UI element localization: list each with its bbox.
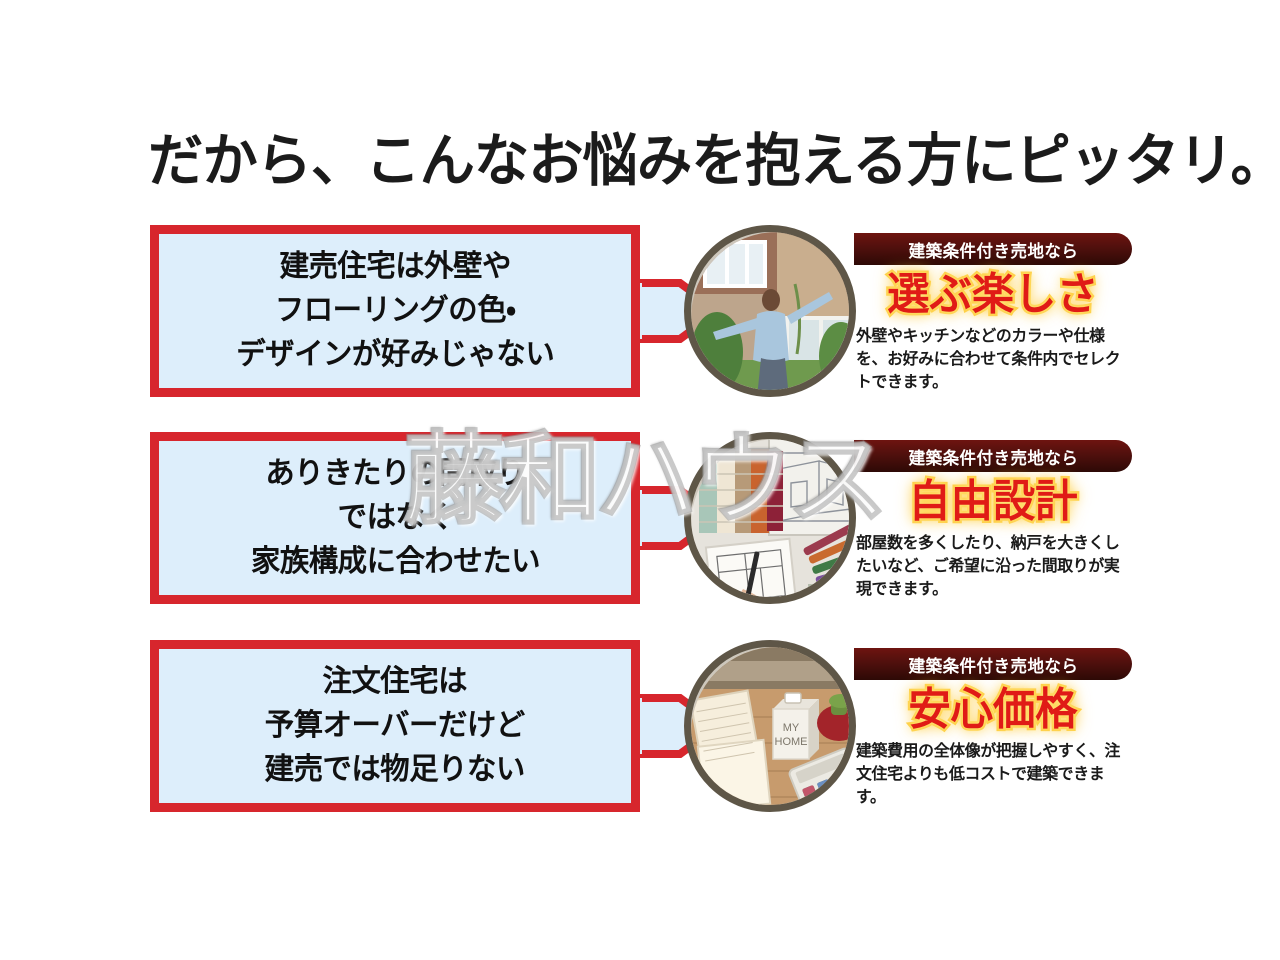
benefit-description: 外壁やキッチンなどのカラーや仕様を、お好みに合わせて条件内でセレクトできます。 <box>856 325 1129 394</box>
problem-text: 注文住宅は 予算オーバーだけど 建売では物足りない <box>265 660 525 792</box>
benefit-photo <box>684 432 856 604</box>
benefit-row: 注文住宅は 予算オーバーだけど 建売では物足りない <box>0 640 1280 816</box>
benefit-card-body: 建築条件付き売地なら 安心価格 建築費用の全体像が把握しやすく、注文住宅よりも低… <box>854 638 1154 818</box>
benefit-title-text: 安心価格 <box>909 673 1078 737</box>
benefit-card: MY HOME <box>684 638 1154 818</box>
benefit-description: 建築費用の全体像が把握しやすく、注文住宅よりも低コストで建築できます。 <box>856 740 1129 809</box>
benefit-title: 選ぶ楽しさ <box>854 261 1132 319</box>
problem-callout: ありきたりの間取り ではなく 家族構成に合わせたい <box>150 432 640 604</box>
benefit-card: 建築条件付き売地なら 選ぶ楽しさ 外壁やキッチンなどのカラーや仕様を、お好みに合… <box>684 223 1154 403</box>
benefit-photo: MY HOME <box>684 640 856 812</box>
problem-text: 建売住宅は外壁や フローリングの色・ デザインが好みじゃない <box>236 245 554 377</box>
benefit-card-body: 建築条件付き売地なら 自由設計 部屋数を多くしたり、納戸を大きくしたいなど、ご希… <box>854 430 1154 610</box>
benefit-row: 建売住宅は外壁や フローリングの色・ デザインが好みじゃない <box>0 225 1280 401</box>
benefit-row: ありきたりの間取り ではなく 家族構成に合わせたい <box>0 432 1280 608</box>
benefit-description: 部屋数を多くしたり、納戸を大きくしたいなど、ご希望に沿った間取りが実現できます。 <box>856 532 1129 601</box>
benefit-title-text: 選ぶ楽しさ <box>887 258 1098 322</box>
slide-canvas: だから、こんなお悩みを抱える方にピッタリ。 建売住宅は外壁や フローリングの色・… <box>0 0 1280 960</box>
benefit-title: 安心価格 <box>854 676 1132 734</box>
problem-callout: 建売住宅は外壁や フローリングの色・ デザインが好みじゃない <box>150 225 640 397</box>
problem-callout: 注文住宅は 予算オーバーだけど 建売では物足りない <box>150 640 640 812</box>
svg-text:HOME: HOME <box>775 736 808 748</box>
benefit-title: 自由設計 <box>854 468 1132 526</box>
benefit-card: 建築条件付き売地なら 自由設計 部屋数を多くしたり、納戸を大きくしたいなど、ご希… <box>684 430 1154 610</box>
benefit-title-text: 自由設計 <box>909 465 1078 529</box>
svg-text:MY: MY <box>783 722 800 734</box>
benefit-photo <box>684 225 856 397</box>
problem-text: ありきたりの間取り ではなく 家族構成に合わせたい <box>250 452 539 584</box>
page-title: だから、こんなお悩みを抱える方にピッタリ。 <box>148 128 1128 194</box>
benefit-card-body: 建築条件付き売地なら 選ぶ楽しさ 外壁やキッチンなどのカラーや仕様を、お好みに合… <box>854 223 1154 403</box>
